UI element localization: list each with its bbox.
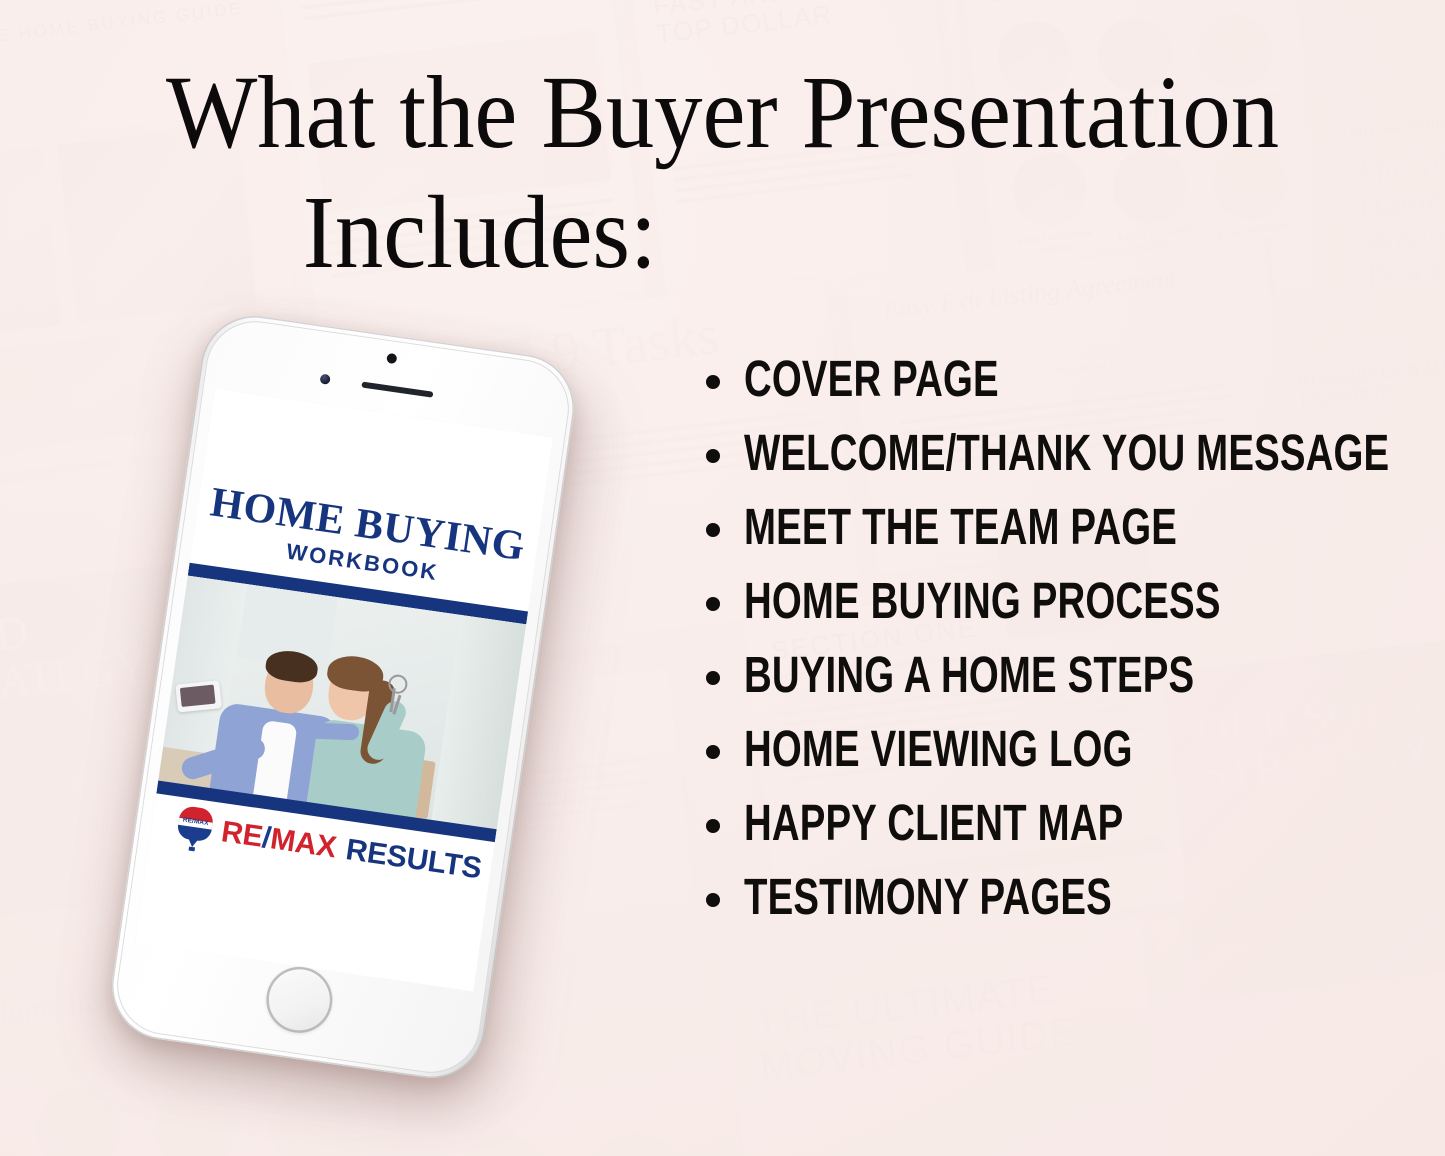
bullet-dot-icon	[706, 819, 720, 833]
bullet-dot-icon	[706, 449, 720, 463]
bullet-dot-icon	[706, 671, 720, 685]
list-item-label: HOME VIEWING LOG	[744, 725, 1133, 776]
list-item: TESTIMONY PAGES	[706, 870, 1406, 926]
list-item: MEET THE TEAM PAGE	[706, 500, 1406, 556]
list-item-label: COVER PAGE	[744, 355, 999, 406]
list-item: WELCOME/THANK YOU MESSAGE	[706, 426, 1406, 482]
list-item: BUYING A HOME STEPS	[706, 648, 1406, 704]
list-item-label: HOME BUYING PROCESS	[744, 577, 1221, 628]
list-item-label: HAPPY CLIENT MAP	[744, 799, 1123, 850]
bullet-dot-icon	[706, 893, 720, 907]
list-item: HOME BUYING PROCESS	[706, 574, 1406, 630]
bullet-dot-icon	[706, 523, 720, 537]
remax-balloon-icon: RE/MAX	[175, 805, 215, 851]
bullet-dot-icon	[706, 597, 720, 611]
logo-results: RESULTS	[344, 833, 484, 885]
list-item: HOME VIEWING LOG	[706, 722, 1406, 778]
title-line-2: Includes:	[0, 182, 1152, 284]
list-item: HAPPY CLIENT MAP	[706, 796, 1406, 852]
logo-re: RE	[219, 815, 265, 854]
list-item-label: WELCOME/THANK YOU MESSAGE	[744, 429, 1389, 480]
feature-list: COVER PAGE WELCOME/THANK YOU MESSAGE MEE…	[706, 352, 1406, 944]
list-item-label: BUYING A HOME STEPS	[744, 651, 1194, 702]
list-item: COVER PAGE	[706, 352, 1406, 408]
promo-graphic: THE ULTIMATE HOME BUYING GUIDE Add a Col…	[0, 0, 1445, 1156]
page-title: What the Buyer Presentation Includes:	[0, 62, 1445, 284]
list-item-label: MEET THE TEAM PAGE	[744, 503, 1177, 554]
title-line-1: What the Buyer Presentation	[51, 62, 1395, 164]
bullet-dot-icon	[706, 745, 720, 759]
logo-max: MAX	[268, 822, 338, 864]
bullet-dot-icon	[706, 375, 720, 389]
list-item-label: TESTIMONY PAGES	[744, 873, 1112, 924]
